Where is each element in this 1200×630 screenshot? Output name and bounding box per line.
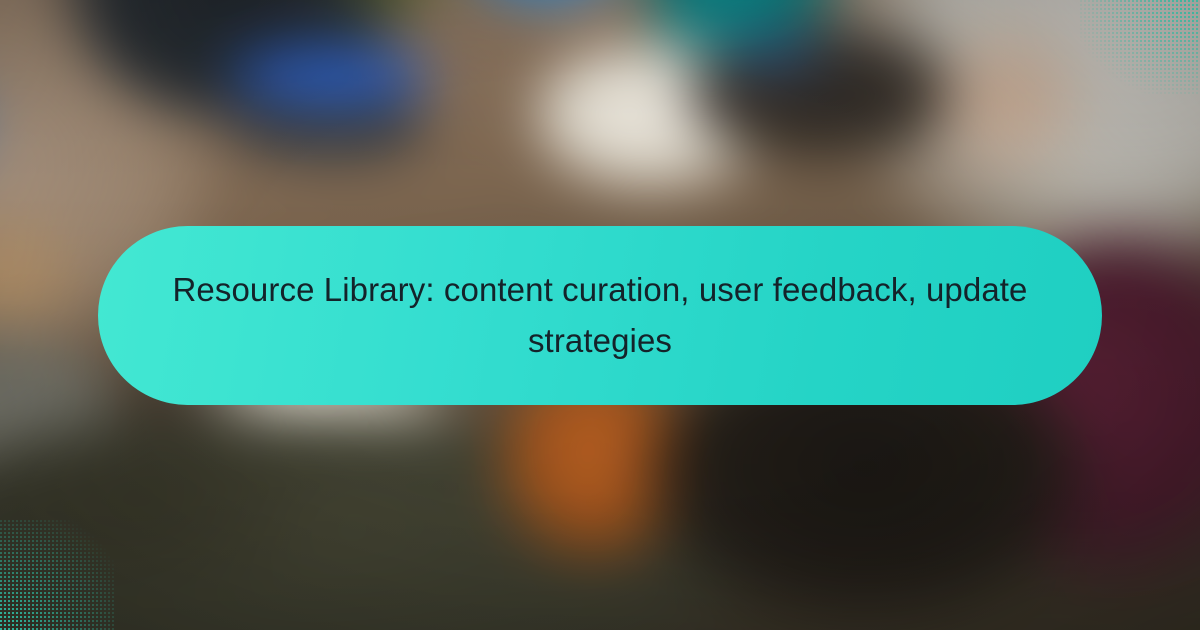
photo-blob-hand-right	[918, 13, 1098, 183]
title-pill: Resource Library: content curation, user…	[98, 226, 1102, 405]
photo-blob-laptop-screen	[706, 36, 844, 68]
photo-blob-monitor-blue	[224, 43, 436, 107]
page-title: Resource Library: content curation, user…	[168, 265, 1032, 365]
social-card: Resource Library: content curation, user…	[0, 0, 1200, 630]
